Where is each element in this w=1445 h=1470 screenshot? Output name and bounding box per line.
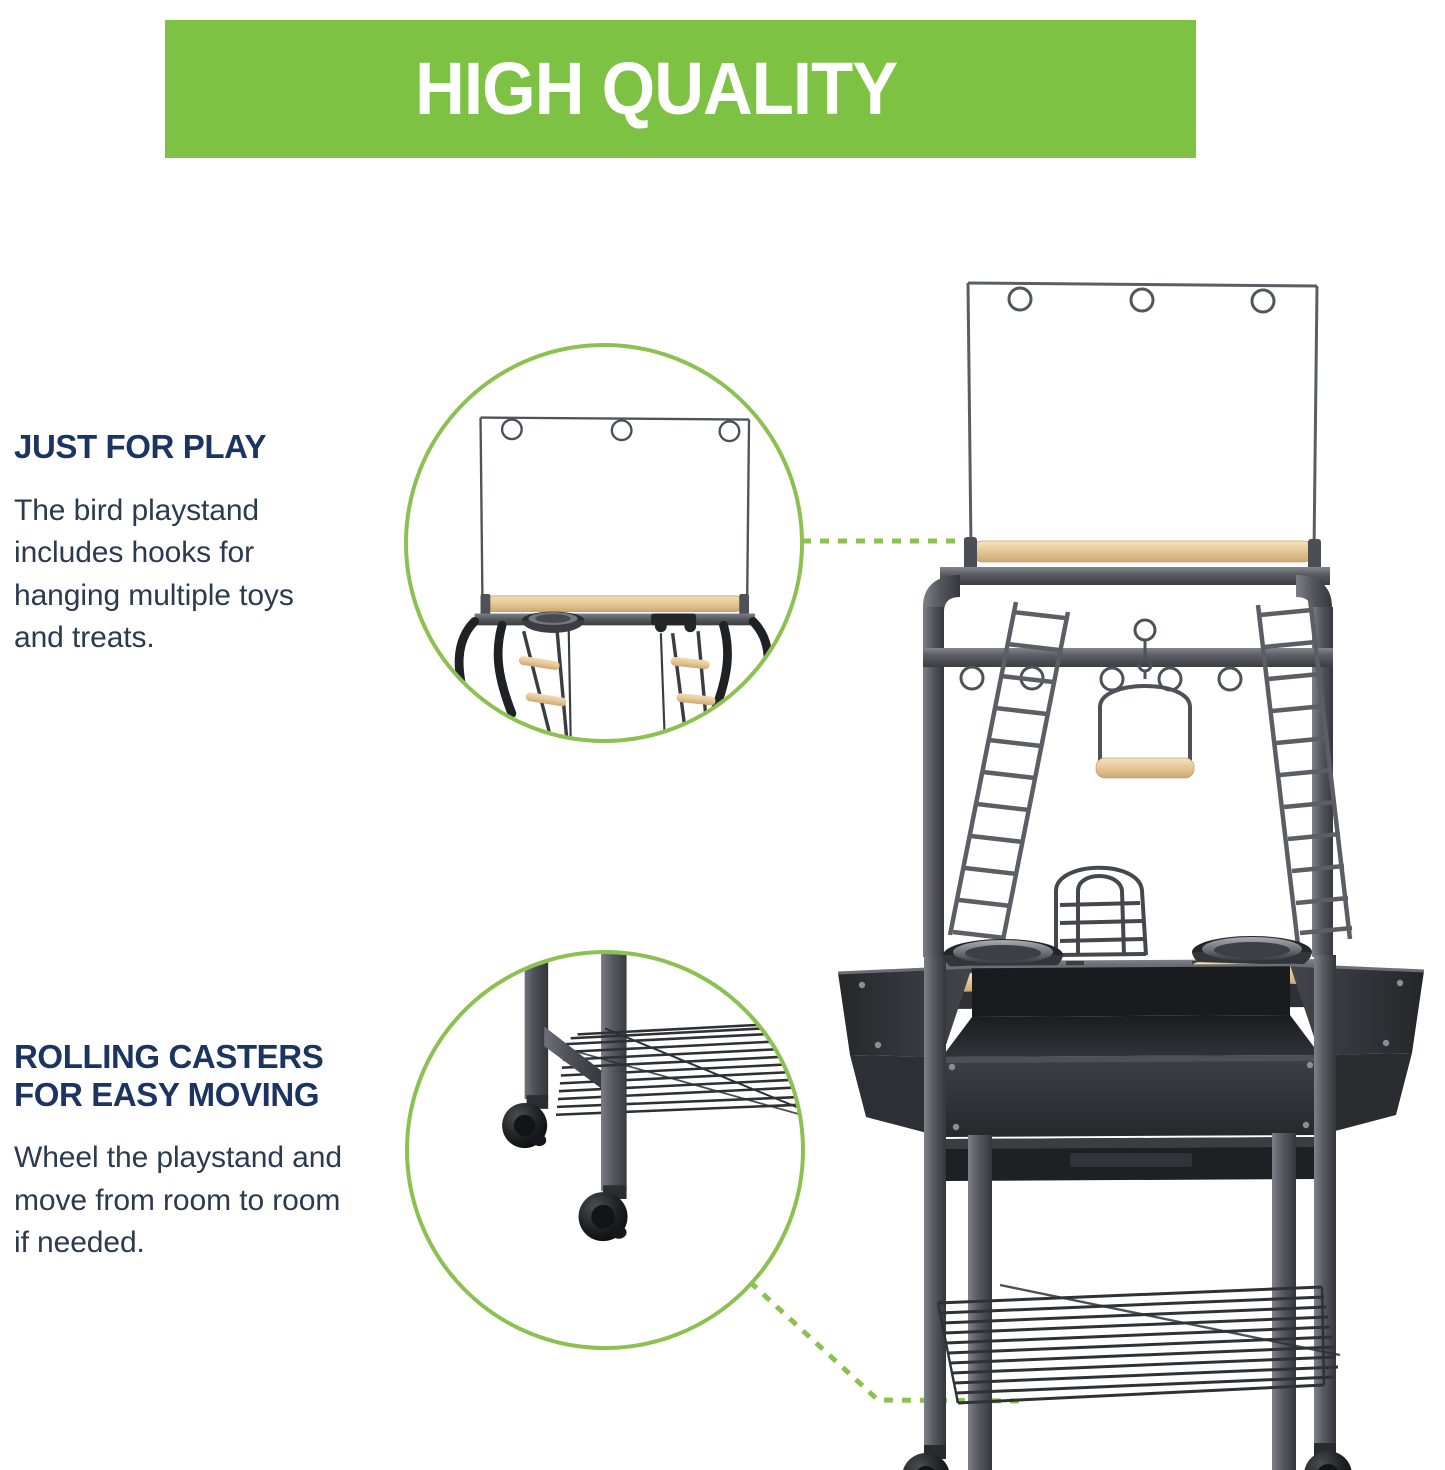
pull-out-drawer xyxy=(946,1137,1318,1181)
top-rack-frame xyxy=(481,418,750,608)
caster-left-detail xyxy=(502,1095,548,1148)
side-supports xyxy=(459,621,768,713)
leg-middle-detail xyxy=(601,1072,626,1192)
hook-rings-top xyxy=(502,420,739,442)
page-title: HIGH QUALITY xyxy=(415,52,897,126)
callout-top-illustration xyxy=(408,347,800,739)
feature-body-rolling-casters: Wheel the playstand and move from room t… xyxy=(14,1137,344,1265)
header-banner: HIGH QUALITY xyxy=(165,20,1196,158)
support-wires-detail xyxy=(569,629,665,739)
cross-bar-hook-rail xyxy=(923,648,1333,667)
perch-clamp-detail xyxy=(651,614,696,633)
product-image-bird-playstand xyxy=(820,255,1440,1470)
arch-climber xyxy=(1056,868,1146,955)
feature-body-just-for-play: The bird playstand includes hooks for ha… xyxy=(14,490,344,660)
caster-back-left xyxy=(902,1445,950,1470)
swing-seat xyxy=(1096,758,1194,778)
top-frame-bar xyxy=(940,567,1330,585)
top-wooden-perch xyxy=(481,594,750,616)
ladder-left-detail xyxy=(524,629,567,739)
callout-circle-top-hook-rack xyxy=(404,343,804,743)
feature-heading-rolling-casters: ROLLING CASTERS FOR EASY MOVING xyxy=(14,1038,344,1113)
caster-front-detail xyxy=(579,1185,628,1241)
leg-front-left-detail xyxy=(525,954,549,1099)
feeding-bowl-detail xyxy=(522,612,585,633)
top-wooden-perch xyxy=(964,537,1321,571)
feature-heading-just-for-play: JUST FOR PLAY xyxy=(14,428,344,466)
product-illustration-svg xyxy=(820,255,1440,1470)
feature-block-just-for-play: JUST FOR PLAY The bird playstand include… xyxy=(14,428,344,660)
callout-bottom-illustration xyxy=(409,954,801,1346)
caster-back-right xyxy=(1304,1443,1352,1470)
feature-block-rolling-casters: ROLLING CASTERS FOR EASY MOVING Wheel th… xyxy=(14,1038,344,1265)
top-hook-rack xyxy=(968,283,1317,552)
hanging-swing xyxy=(1096,620,1194,778)
ladder-right-detail xyxy=(673,631,708,739)
callout-circle-casters xyxy=(405,950,805,1350)
top-hook-rings xyxy=(1009,288,1274,312)
top-rack-rail xyxy=(475,614,755,626)
